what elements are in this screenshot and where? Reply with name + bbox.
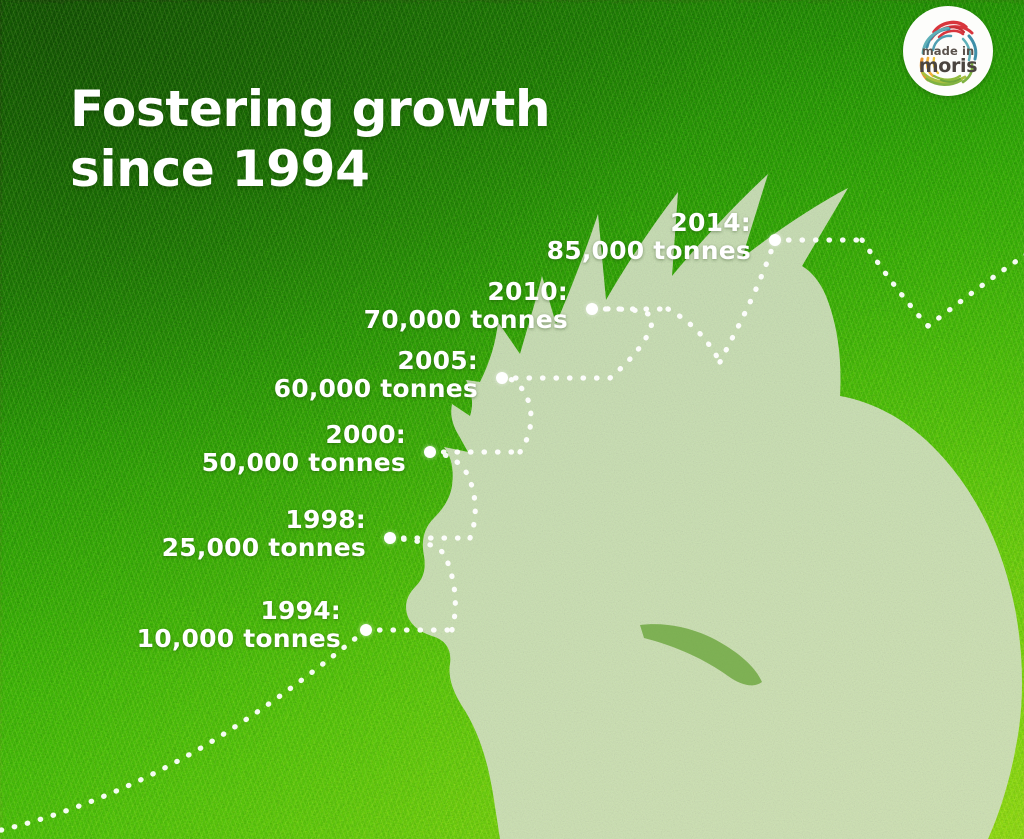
data-label-1994-value: 10,000 tonnes bbox=[137, 625, 341, 653]
data-label-2010: 2010: 70,000 tonnes bbox=[364, 278, 568, 334]
data-label-2010-year: 2010: bbox=[364, 278, 568, 306]
marker-1998[interactable] bbox=[384, 532, 396, 544]
marker-1994[interactable] bbox=[360, 624, 372, 636]
data-label-1994: 1994: 10,000 tonnes bbox=[137, 597, 341, 653]
data-label-1994-year: 1994: bbox=[137, 597, 341, 625]
data-label-2014-year: 2014: bbox=[547, 209, 751, 237]
data-label-1998-year: 1998: bbox=[162, 506, 366, 534]
data-label-2005-year: 2005: bbox=[274, 347, 478, 375]
data-label-2010-value: 70,000 tonnes bbox=[364, 306, 568, 334]
page-title-line2: since 1994 bbox=[70, 139, 550, 199]
page-title: Fostering growth since 1994 bbox=[70, 79, 550, 199]
data-label-2000: 2000: 50,000 tonnes bbox=[202, 421, 406, 477]
data-label-2005-value: 60,000 tonnes bbox=[274, 375, 478, 403]
marker-2010[interactable] bbox=[586, 303, 598, 315]
data-label-2014-value: 85,000 tonnes bbox=[547, 237, 751, 265]
data-label-2014: 2014: 85,000 tonnes bbox=[547, 209, 751, 265]
infographic-canvas: 1994: 10,000 tonnes 1998: 25,000 tonnes … bbox=[0, 0, 1024, 839]
data-label-2000-value: 50,000 tonnes bbox=[202, 449, 406, 477]
data-label-1998: 1998: 25,000 tonnes bbox=[162, 506, 366, 562]
made-in-moris-logo[interactable]: made in moris bbox=[903, 6, 993, 96]
logo-text-moris: moris bbox=[903, 55, 993, 77]
data-label-2000-year: 2000: bbox=[202, 421, 406, 449]
marker-2005[interactable] bbox=[496, 372, 508, 384]
data-label-1998-value: 25,000 tonnes bbox=[162, 534, 366, 562]
data-label-2005: 2005: 60,000 tonnes bbox=[274, 347, 478, 403]
page-title-line1: Fostering growth bbox=[70, 80, 550, 138]
marker-2000[interactable] bbox=[424, 446, 436, 458]
marker-2014[interactable] bbox=[769, 234, 781, 246]
